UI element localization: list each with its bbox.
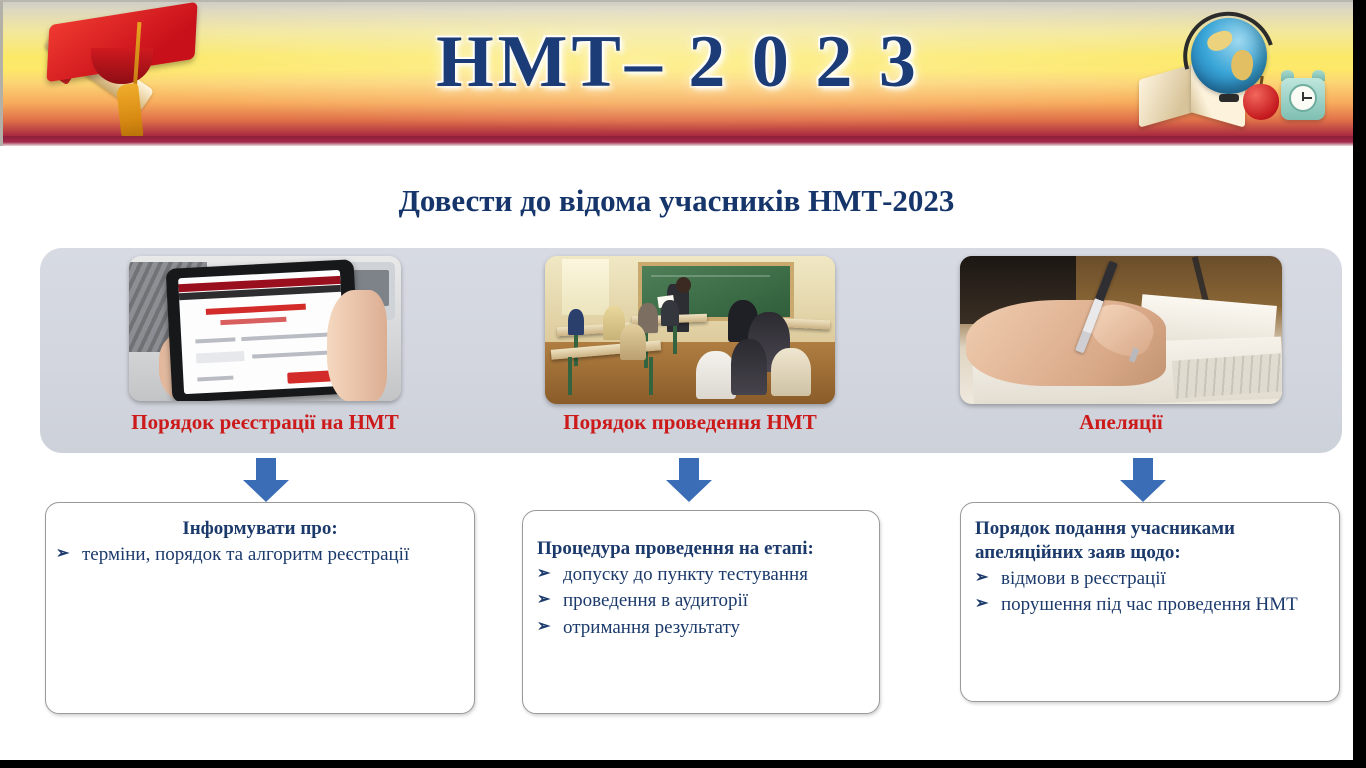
list-item: ➢ проведення в аудиторії [537,589,869,614]
arrow-head [1120,480,1166,502]
classroom-exam-photo [545,256,835,404]
info-box-appeals-list: ➢ відмови в реєстрації ➢ порушення під ч… [961,565,1339,618]
list-item: ➢ допуску до пункту тестування [537,563,869,588]
arrow-shaft [679,458,699,482]
list-item: ➢ відмови в реєстрації [975,567,1329,592]
form-subheading-strip [220,317,286,325]
list-item: ➢ терміни, порядок та алгоритм реєстраці… [56,543,464,568]
list-item: ➢ отримання результату [537,616,869,641]
globe-stand-icon [1219,94,1239,102]
student-figure [696,351,736,399]
list-item-text: терміни, порядок та алгоритм реєстрації [82,543,464,568]
page-title: Довести до відома учасників НМТ-2023 [0,183,1353,219]
card-appeals[interactable]: Апеляції [900,248,1342,453]
info-box-appeals-title: Порядок подання учасниками апеляційних з… [961,503,1339,565]
arrow-shaft [256,458,276,482]
bullet-marker-icon: ➢ [537,563,563,585]
bullet-marker-icon: ➢ [975,593,1001,615]
bullet-marker-icon: ➢ [56,543,82,565]
apple-icon [1243,84,1279,120]
student-figure [568,309,584,335]
bullet-marker-icon: ➢ [975,567,1001,589]
card-procedure-label: Порядок проведення НМТ [485,410,895,435]
info-box-appeals: Порядок подання учасниками апеляційних з… [960,502,1340,702]
list-item-text: отримання результату [563,616,869,641]
keyboard-icon [1171,353,1282,399]
form-field-strip [241,332,329,341]
open-book-left-page-icon [1139,64,1193,127]
tablet-registration-photo [129,256,401,401]
form-field-strip [197,376,233,382]
hand-writing-photo [960,256,1282,404]
bullet-marker-icon: ➢ [537,589,563,611]
info-box-procedure-list: ➢ допуску до пункту тестування ➢ проведе… [523,561,879,641]
cards-panel: Порядок реєстрації на НМТ [40,248,1342,453]
arrow-head [243,480,289,502]
student-figure [771,348,811,396]
info-box-procedure-title: Процедура проведення на етапі: [523,511,879,561]
student-figure [620,324,646,360]
arrow-shaft [1133,458,1153,482]
card-registration-label: Порядок реєстрації на НМТ [40,410,490,435]
desk-leg [649,357,653,395]
desk-leg [673,324,677,354]
desk-leg [568,357,572,395]
card-procedure-photo [545,256,835,404]
student-figure [731,339,767,395]
header-banner: НМТ– 2 0 2 3 [0,0,1353,146]
card-registration[interactable]: Порядок реєстрації на НМТ [40,248,490,453]
list-item-text: допуску до пункту тестування [563,563,869,588]
form-field-strip [195,337,235,343]
arrow-down-icon-registration [243,458,289,502]
slide-canvas: НМТ– 2 0 2 3 Довести до відома учасників… [0,0,1353,760]
bullet-marker-icon: ➢ [537,616,563,638]
clock-minute-hand-icon [1303,97,1312,99]
list-item: ➢ порушення під час проведення НМТ [975,593,1329,618]
teacher-head [676,277,691,293]
list-item-text: відмови в реєстрації [1001,567,1329,592]
student-figure [661,300,679,326]
form-field-strip [196,351,244,363]
list-item-text: проведення в аудиторії [563,589,869,614]
right-hand-icon [327,290,387,401]
info-box-registration: Інформувати про: ➢ терміни, порядок та а… [45,502,475,714]
form-field-strip [252,350,330,358]
arrow-head [666,480,712,502]
card-appeals-photo [960,256,1282,404]
tablet-screen-icon [178,270,346,394]
submit-button-strip [287,370,332,383]
card-appeals-label: Апеляції [900,410,1342,435]
info-box-registration-title: Інформувати про: [46,503,474,541]
card-procedure[interactable]: Порядок проведення НМТ [485,248,895,453]
info-box-registration-list: ➢ терміни, порядок та алгоритм реєстраці… [46,541,474,568]
arrow-down-icon-procedure [666,458,712,502]
info-box-procedure: Процедура проведення на етапі: ➢ допуску… [522,510,880,714]
form-heading-strip [206,304,306,315]
school-supplies-icon [1139,10,1339,142]
classroom-window [562,259,608,315]
arrow-down-icon-appeals [1120,458,1166,502]
list-item-text: порушення під час проведення НМТ [1001,593,1329,618]
card-registration-photo [129,256,401,401]
